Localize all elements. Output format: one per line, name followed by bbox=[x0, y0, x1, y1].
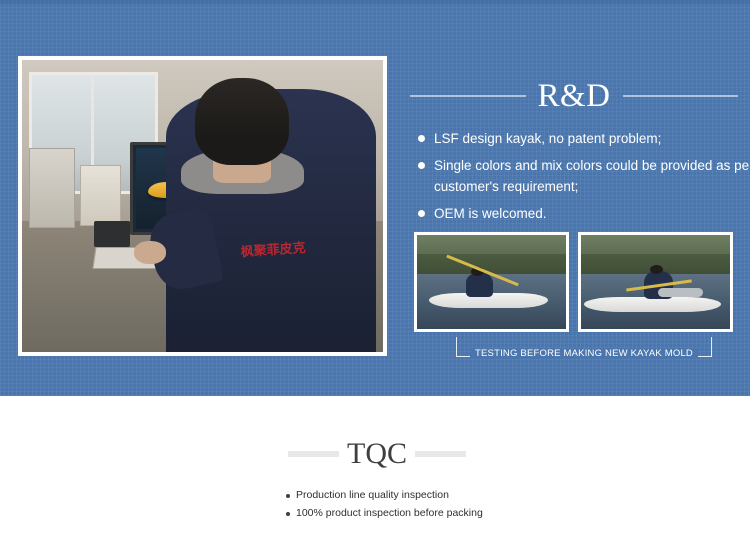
desk-phone bbox=[94, 221, 130, 247]
rd-title: R&D bbox=[538, 78, 611, 115]
rd-bullet-1: LSF design kayak, no patent problem; bbox=[434, 128, 661, 149]
tqc-heading: TQC bbox=[288, 436, 466, 472]
rd-caption-wrap: TESTING BEFORE MAKING NEW KAYAK MOLD bbox=[456, 348, 712, 359]
kayak bbox=[584, 297, 721, 312]
computer-tower bbox=[29, 148, 74, 229]
paper-stack bbox=[80, 165, 122, 225]
rd-test-photo-1 bbox=[414, 232, 569, 332]
list-item: Production line quality inspection bbox=[286, 488, 586, 503]
rd-main-photo: 枫聚菲皮克 bbox=[18, 56, 387, 356]
paddler-body bbox=[466, 273, 493, 297]
tqc-bullet-2: 100% product inspection before packing bbox=[296, 506, 483, 521]
tqc-title: TQC bbox=[347, 437, 407, 471]
rd-caption: TESTING BEFORE MAKING NEW KAYAK MOLD bbox=[470, 348, 698, 359]
tqc-bullet-list: Production line quality inspection 100% … bbox=[286, 488, 586, 524]
tqc-heading-rule-right bbox=[415, 451, 466, 457]
bullet-dot-icon bbox=[418, 135, 425, 142]
rd-section: 枫聚菲皮克 R&D LSF design kayak, no patent pr… bbox=[0, 0, 750, 396]
jacket-print-text: 枫聚菲皮克 bbox=[208, 239, 342, 312]
rd-bullet-2: Single colors and mix colors could be pr… bbox=[434, 155, 750, 197]
rd-heading-rule-right bbox=[623, 95, 739, 97]
product-detail-page: 枫聚菲皮克 R&D LSF design kayak, no patent pr… bbox=[0, 0, 750, 553]
designer-head bbox=[195, 78, 289, 166]
rd-heading: R&D bbox=[410, 76, 738, 116]
list-item: OEM is welcomed. bbox=[418, 203, 750, 224]
tqc-section: TQC Production line quality inspection 1… bbox=[0, 396, 750, 553]
rd-bullet-list: LSF design kayak, no patent problem; Sin… bbox=[418, 128, 750, 230]
rd-bullet-3: OEM is welcomed. bbox=[434, 203, 547, 224]
list-item: 100% product inspection before packing bbox=[286, 506, 586, 521]
bullet-dot-icon bbox=[286, 494, 290, 498]
tqc-heading-rule-left bbox=[288, 451, 339, 457]
bullet-dot-icon bbox=[418, 162, 425, 169]
bullet-dot-icon bbox=[418, 210, 425, 217]
designer-hand bbox=[134, 241, 166, 264]
bullet-dot-icon bbox=[286, 512, 290, 516]
tqc-bullet-1: Production line quality inspection bbox=[296, 488, 449, 503]
rd-test-photo-2 bbox=[578, 232, 733, 332]
rd-heading-rule-left bbox=[410, 95, 526, 97]
paddler-legs bbox=[658, 288, 703, 297]
list-item: LSF design kayak, no patent problem; bbox=[418, 128, 750, 149]
list-item: Single colors and mix colors could be pr… bbox=[418, 155, 750, 197]
rd-caption-bracket: TESTING BEFORE MAKING NEW KAYAK MOLD bbox=[456, 337, 712, 363]
rd-main-photo-scene: 枫聚菲皮克 bbox=[22, 60, 383, 352]
